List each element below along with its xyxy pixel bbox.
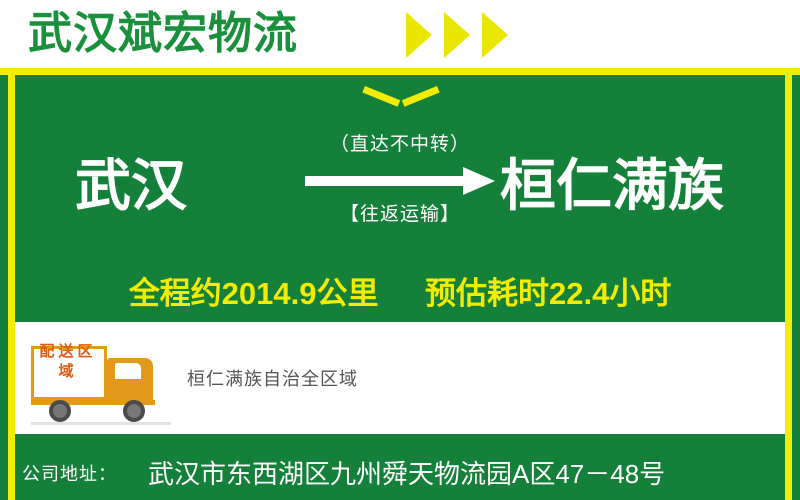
origin-city: 武汉 [75,150,187,222]
header-divider [0,68,800,75]
truck-wheel [49,400,71,422]
address-bar: 公司地址： 武汉市东西湖区九州舜天物流园A区47－48号 [0,444,800,500]
destination-city: 桓仁满族 [500,150,724,222]
header-bar: 武汉斌宏物流 [0,0,800,68]
company-name: 武汉斌宏物流 [28,8,298,60]
duration-stat: 预估耗时22.4小时 [425,268,671,313]
chevron-right-icon [482,12,508,58]
truck-wheel [123,400,145,422]
distance-stat: 全程约2014.9公里 [129,268,379,313]
truck-window [115,363,141,379]
chevron-decoration [400,12,620,58]
route-note-bottom: 【往返运输】 [280,202,520,228]
route-section: 武汉 （直达不中转） 【往返运输】 桓仁满族 [0,150,800,260]
route-note-top: （直达不中转） [280,132,520,158]
chevron-right-icon [444,12,470,58]
coverage-strip: 配送区域 桓仁满族自治全区域 [15,322,785,434]
delivery-truck-icon: 配送区域 [31,336,179,424]
coverage-area-text: 桓仁满族自治全区域 [187,365,358,391]
address-value: 武汉市东西湖区九州舜天物流园A区47－48号 [148,454,665,491]
arrow-shaft [305,176,465,186]
address-label: 公司地址： [22,460,117,486]
road-line [31,422,171,425]
arrow-head [463,167,495,195]
arrow-right-icon [305,164,495,200]
chevron-right-icon [406,12,432,58]
stats-row: 全程约2014.9公里 预估耗时22.4小时 [0,268,800,313]
truck-box-label: 配送区域 [37,342,99,382]
logistics-banner: 武汉斌宏物流 武汉 （直达不中转） 【往返运输】 桓仁满族 全程约2014.9公… [0,0,800,500]
route-middle: （直达不中转） 【往返运输】 [280,132,520,228]
chevron-down-icon [365,86,437,112]
